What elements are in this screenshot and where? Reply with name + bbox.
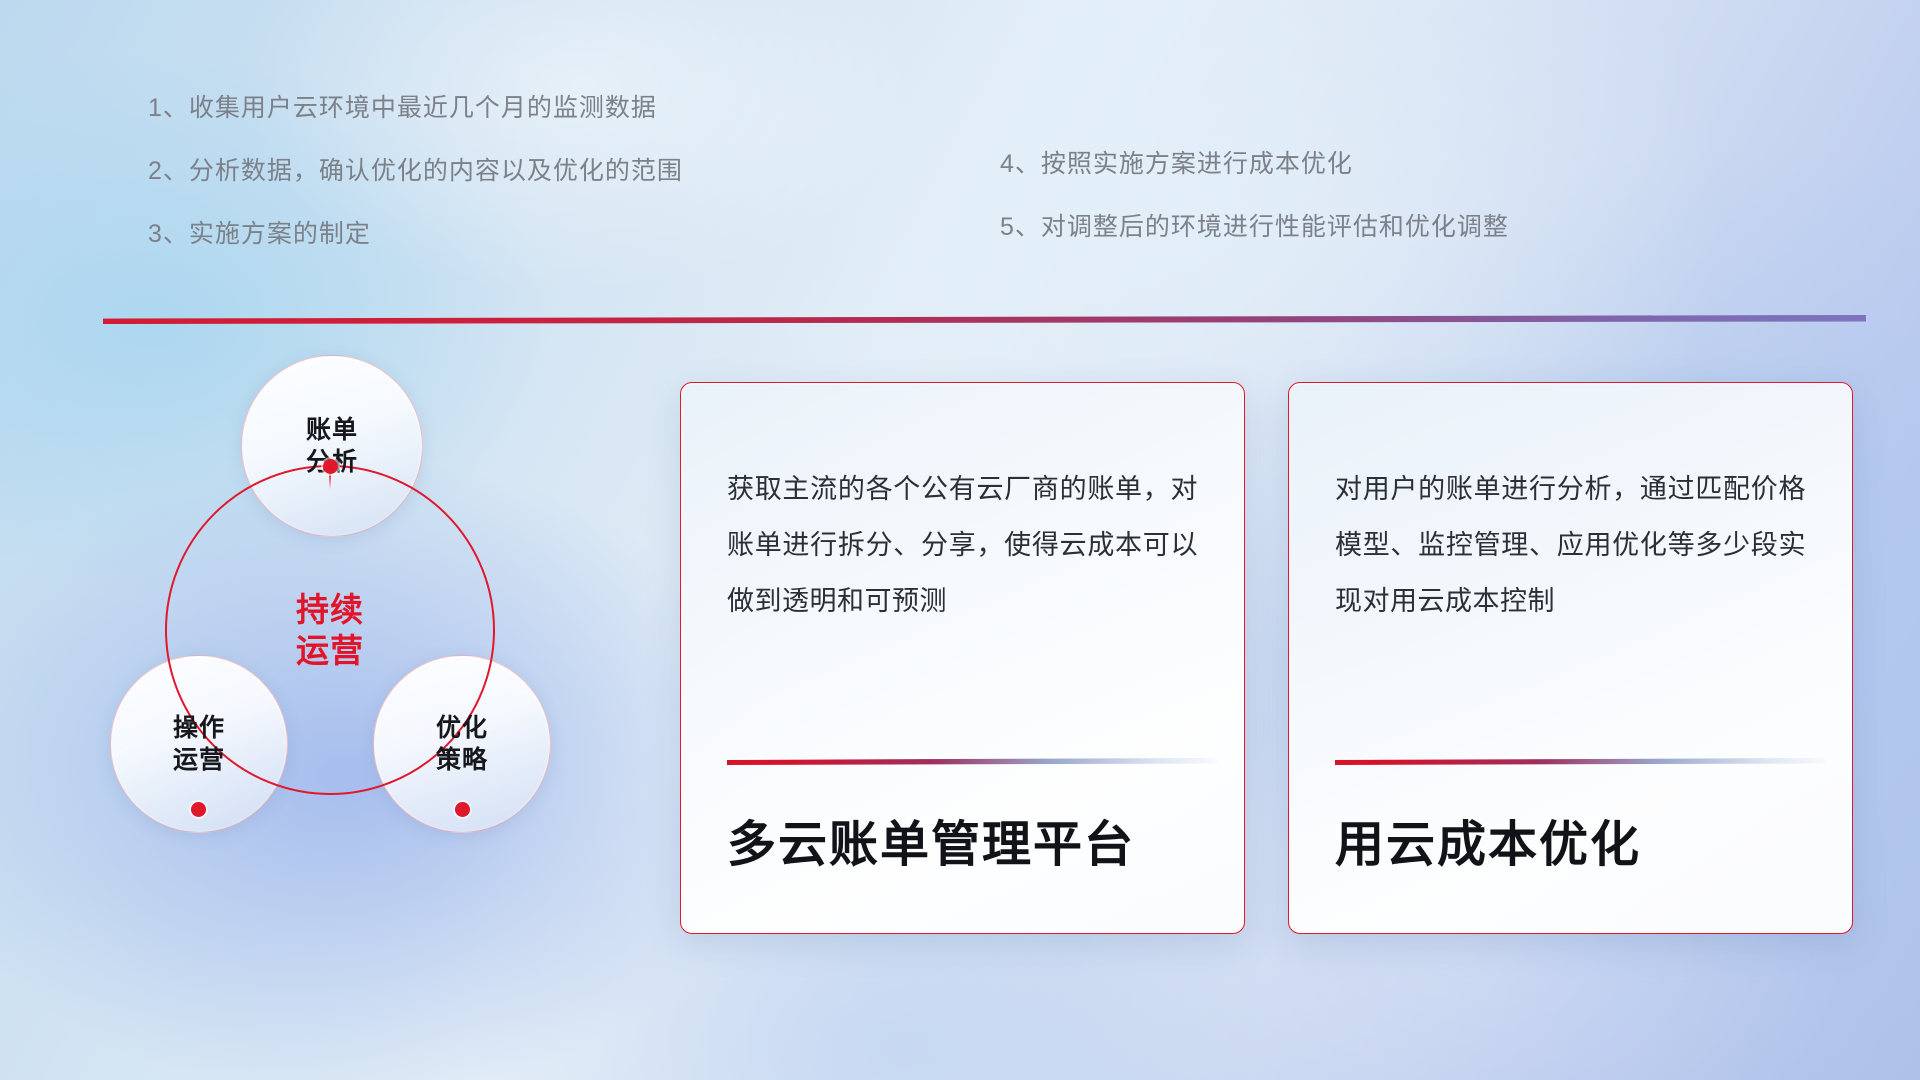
steps-list-left: 1、收集用户云环境中最近几个月的监测数据 2、分析数据，确认优化的内容以及优化的…: [148, 96, 683, 285]
steps-list-right: 4、按照实施方案进行成本优化 5、对调整后的环境进行性能评估和优化调整: [1000, 152, 1509, 278]
card-2-title: 用云成本优化: [1335, 816, 1825, 875]
connector-tail-top: [329, 473, 331, 489]
card-2-rule: [1335, 758, 1825, 765]
node-dot-bottom-right: [455, 802, 470, 817]
card-1-body: 获取主流的各个公有云厂商的账单，对账单进行拆分、分享，使得云成本可以做到透明和可…: [727, 461, 1198, 629]
step-item-4: 4、按照实施方案进行成本优化: [1000, 152, 1509, 177]
step-item-5: 5、对调整后的环境进行性能评估和优化调整: [1000, 215, 1509, 240]
card-multicloud-billing-platform[interactable]: 获取主流的各个公有云厂商的账单，对账单进行拆分、分享，使得云成本可以做到透明和可…: [680, 382, 1245, 934]
circle-optimization-strategy-label: 优化 策略: [436, 712, 488, 776]
continuous-operation-diagram: 账单 分析 操作 运营 优化 策略 持续 运营: [105, 355, 605, 945]
node-dot-top: [323, 459, 338, 474]
card-1-rule: [727, 758, 1217, 765]
card-2-body: 对用户的账单进行分析，通过匹配价格模型、监控管理、应用优化等多少段实现对用云成本…: [1335, 461, 1806, 629]
step-item-2: 2、分析数据，确认优化的内容以及优化的范围: [148, 159, 683, 184]
node-dot-bottom-left: [191, 802, 206, 817]
step-item-1: 1、收集用户云环境中最近几个月的监测数据: [148, 96, 683, 121]
step-item-3: 3、实施方案的制定: [148, 222, 683, 247]
slide-canvas: 1、收集用户云环境中最近几个月的监测数据 2、分析数据，确认优化的内容以及优化的…: [0, 0, 1920, 1080]
circle-operation-label: 操作 运营: [173, 712, 225, 776]
section-divider: [103, 315, 1866, 324]
circle-continuous-operation-label: 持续 运营: [296, 589, 364, 672]
card-cloud-cost-optimization[interactable]: 对用户的账单进行分析，通过匹配价格模型、监控管理、应用优化等多少段实现对用云成本…: [1288, 382, 1853, 934]
card-1-title: 多云账单管理平台: [727, 816, 1217, 875]
